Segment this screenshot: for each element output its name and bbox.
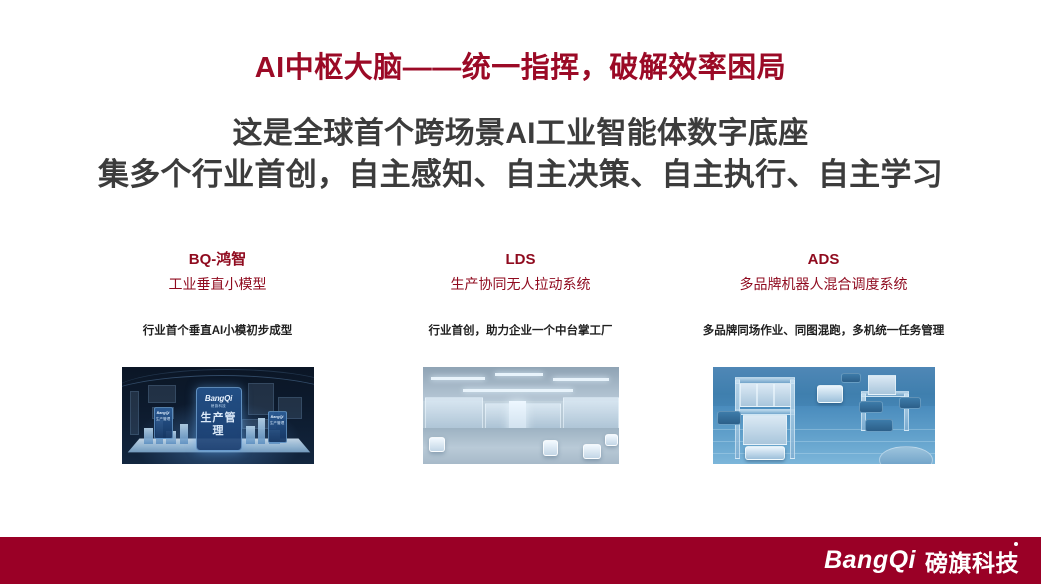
feature-title: BQ-鸿智 [189,250,247,270]
decor-building [258,418,265,444]
brand-logo: BangQi 磅旗科技 [824,544,1019,578]
decor-robot-unit [543,440,558,456]
feature-image-digital-factory: BangQi 磅旗科技 生产管理 BangQi 生产管理 BangQi 生产管理 [122,367,314,464]
decor-data-panel [148,385,176,403]
decor-agv-robot [745,446,785,460]
feature-description: 行业首个垂直AI小模初步成型 [143,323,293,339]
phone-logo-text: BangQi [269,415,286,419]
decor-agv-robot [841,373,861,383]
screen-caption-cn: 生产管理 [197,412,241,438]
screen-phone-left: BangQi 生产管理 [154,407,173,439]
decor-building [144,428,153,444]
subtitle-line-2: 集多个行业首创，自主感知、自主决策、自主执行、自主学习 [0,154,1041,195]
decor-light-beam [431,377,485,380]
decor-data-panel [130,391,139,435]
subtitle-line-1: 这是全球首个跨场景AI工业智能体数字底座 [0,113,1041,154]
page-title: AI中枢大脑——统一指挥，破解效率困局 [0,44,1041,86]
screen-phone-right: BangQi 生产管理 [268,411,287,443]
phone-caption-cn: 生产管理 [269,421,286,426]
decor-light-beam [553,378,609,381]
feature-subtitle: 工业垂直小模型 [169,274,267,294]
decor-robot-unit [583,444,601,459]
feature-description: 行业首创，助力企业一个中台掌工厂 [429,323,613,339]
screen-logo-text: BangQi [197,394,241,403]
decor-agv-robot [817,385,843,403]
decor-building [180,424,188,444]
feature-column-lds: LDS 生产协同无人拉动系统 行业首创，助力企业一个中台掌工厂 [369,250,672,464]
feature-subtitle: 生产协同无人拉动系统 [451,274,591,294]
screen-production-management: BangQi 磅旗科技 生产管理 [196,387,242,451]
brand-name-cn: 磅旗科技 [925,544,1019,578]
decor-carton [740,383,757,407]
decor-carton [757,383,774,407]
feature-columns: BQ-鸿智 工业垂直小模型 行业首个垂直AI小模初步成型 [66,250,976,464]
decor-building [246,426,255,444]
subtitle-block: 这是全球首个跨场景AI工业智能体数字底座 集多个行业首创，自主感知、自主决策、自… [0,113,1041,195]
feature-title: ADS [808,250,840,270]
screen-logo-subtext: 磅旗科技 [197,403,241,408]
decor-robot-unit [605,434,618,446]
phone-caption-cn: 生产管理 [155,417,172,422]
feature-title: LDS [506,250,536,270]
feature-subtitle: 多品牌机器人混合调度系统 [740,274,908,294]
decor-carton-large [743,415,787,445]
feature-column-ads: ADS 多品牌机器人混合调度系统 多品牌同场作业、同图混跑，多机统一任务管理 [672,250,975,464]
feature-column-bq-hongzhi: BQ-鸿智 工业垂直小模型 行业首个垂直AI小模初步成型 [66,250,369,464]
feature-image-smart-workshop [423,367,619,464]
decor-agv-robot [865,419,893,432]
feature-image-agv-warehouse [713,367,935,464]
decor-agv-robot [717,411,741,425]
decor-carton [774,383,791,407]
brand-name-en: BangQi [824,546,916,575]
decor-agv-robot [859,401,883,413]
phone-logo-text: BangQi [155,411,172,415]
brand-dot-icon [1014,542,1018,546]
decor-light-beam [495,373,543,376]
decor-carton [868,375,896,395]
slide-root: AI中枢大脑——统一指挥，破解效率困局 这是全球首个跨场景AI工业智能体数字底座… [0,0,1041,584]
decor-robot-unit [429,437,445,452]
footer-bar: BangQi 磅旗科技 [0,537,1041,584]
decor-agv-robot [899,397,921,409]
feature-description: 多品牌同场作业、同图混跑，多机统一任务管理 [703,323,945,339]
decor-light-beam [463,389,573,392]
